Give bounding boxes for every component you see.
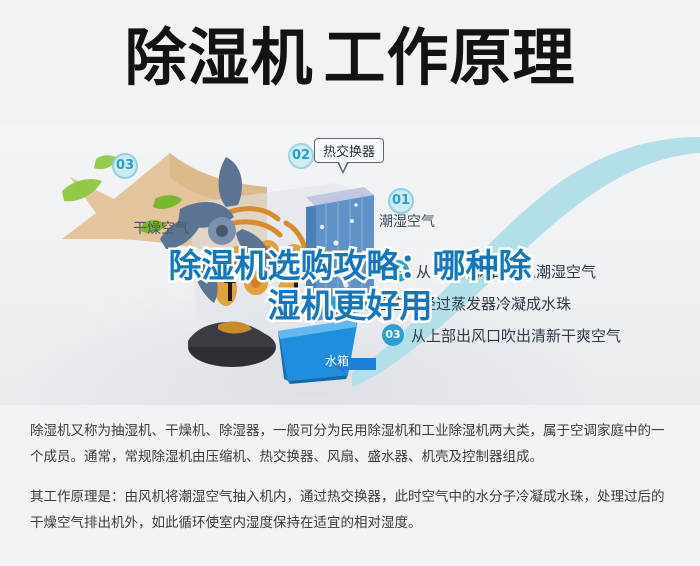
title-part-b: 工作原理 xyxy=(324,22,576,94)
article-body: 除湿机又称为抽湿机、干燥机、除湿器，一般可分为民用除湿机和工业除湿机两大类，属于… xyxy=(30,418,675,536)
heat-exchanger-callout: 热交换器 xyxy=(314,138,384,163)
label-dry-air: 干燥空气 xyxy=(133,218,189,238)
article-image: 除湿机工作原理 xyxy=(0,0,700,566)
body-paragraph-1: 除湿机又称为抽湿机、干燥机、除湿器，一般可分为民用除湿机和工业除湿机两大类，属于… xyxy=(30,418,675,470)
body-paragraph-2: 其工作原理是：由风机将潮湿空气抽入机内，通过热交换器，此时空气中的水分子冷凝成水… xyxy=(30,484,675,536)
badge-step-03-top: 03 xyxy=(112,153,138,179)
overlay-line-2: 湿机更好用 xyxy=(0,286,700,326)
overlay-headline: 除湿机选购攻略：哪种除 湿机更好用 xyxy=(0,246,700,326)
step-3-text: 从上部出风口吹出清新干爽空气 xyxy=(411,325,621,346)
step-3-badge: 03 xyxy=(382,324,404,346)
page-title: 除湿机工作原理 xyxy=(0,22,700,94)
overlay-line-1: 除湿机选购攻略：哪种除 xyxy=(0,246,700,286)
title-part-a: 除湿机 xyxy=(124,22,313,94)
badge-step-02: 02 xyxy=(288,143,314,169)
label-humid-air: 潮湿空气 xyxy=(379,211,435,231)
label-water-tank: 水箱 xyxy=(325,352,349,369)
